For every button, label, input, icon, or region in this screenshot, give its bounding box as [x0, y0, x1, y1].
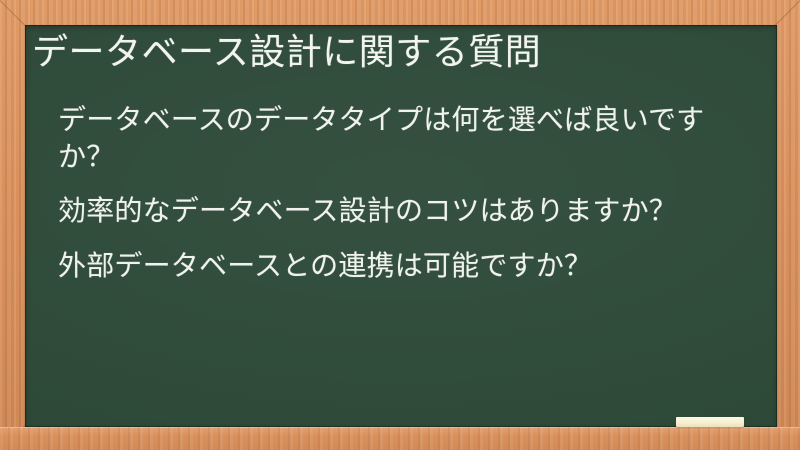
list-item: 効率的なデータベース設計のコツはありますか？	[58, 192, 751, 229]
list-item: 外部データベースとの連携は可能ですか？	[58, 247, 751, 284]
list-item: データベースのデータタイプは何を選べば良いですか？	[58, 101, 751, 175]
ledge-wood-grain	[0, 427, 800, 450]
chalk-stick	[676, 417, 744, 427]
page-title: データベース設計に関する質問	[32, 29, 767, 75]
chalkboard-surface: データベース設計に関する質問 データベースのデータタイプは何を選べば良いですか？…	[25, 25, 777, 427]
chalkboard-slide: データベース設計に関する質問 データベースのデータタイプは何を選べば良いですか？…	[0, 0, 800, 450]
slide-content: データベース設計に関する質問 データベースのデータタイプは何を選べば良いですか？…	[25, 25, 777, 427]
question-list: データベースのデータタイプは何を選べば良いですか？ 効率的なデータベース設計のコ…	[58, 101, 751, 284]
chalk-ledge	[0, 427, 800, 450]
